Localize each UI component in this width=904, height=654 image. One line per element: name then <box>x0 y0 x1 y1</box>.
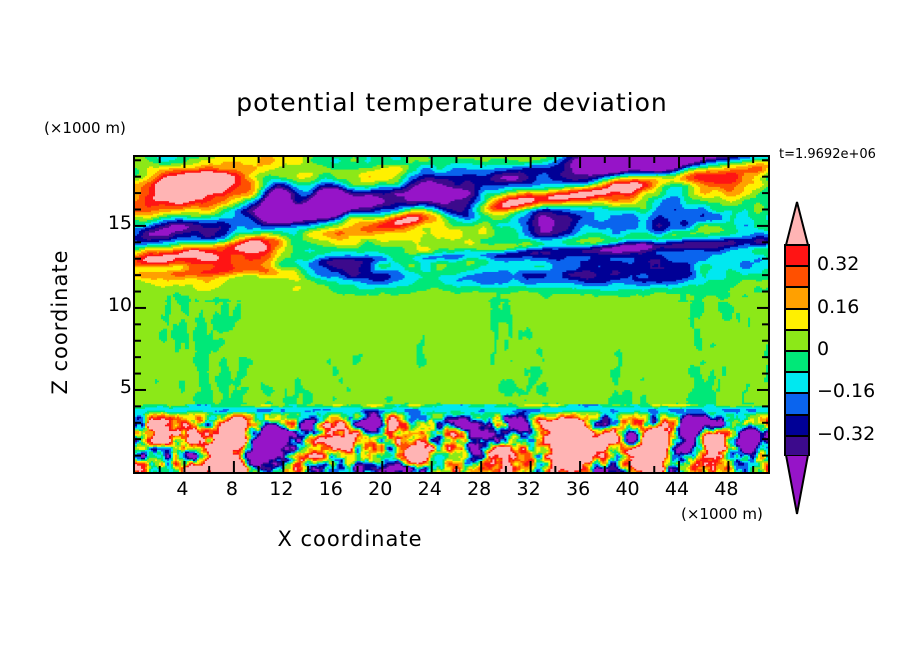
x-tick-label: 36 <box>555 478 601 500</box>
x-tick-label: 40 <box>605 478 651 500</box>
colorbar-band <box>786 394 808 415</box>
colorbar-tick-label: 0.32 <box>817 253 859 275</box>
x-tick-label: 4 <box>159 478 205 500</box>
x-axis-units-label: (×1000 m) <box>681 505 763 523</box>
y-axis-title: Z coordinate <box>48 222 72 422</box>
contour-plot-area <box>133 155 770 474</box>
colorbar-band <box>786 246 808 267</box>
x-tick-label: 44 <box>654 478 700 500</box>
x-tick-label: 12 <box>258 478 304 500</box>
colorbar-band <box>786 416 808 437</box>
colorbar-tick-label: −0.32 <box>817 423 875 445</box>
colorbar-tick-label: 0 <box>817 338 829 360</box>
colorbar-band <box>786 352 808 373</box>
y-tick-label: 5 <box>92 376 132 398</box>
colorbar-under-arrow <box>784 455 810 515</box>
colorbar-over-arrow <box>784 201 810 245</box>
x-tick-label: 48 <box>703 478 749 500</box>
page-title: potential temperature deviation <box>0 88 904 117</box>
figure-canvas: potential temperature deviation (×1000 m… <box>0 0 904 654</box>
x-tick-label: 32 <box>506 478 552 500</box>
y-tick-label: 10 <box>92 294 132 316</box>
y-axis-units-label: (×1000 m) <box>44 119 126 137</box>
colorbar-band <box>786 310 808 331</box>
x-axis-title: X coordinate <box>0 527 700 551</box>
colorbar-band <box>786 331 808 352</box>
x-tick-label: 8 <box>209 478 255 500</box>
x-tick-label: 16 <box>308 478 354 500</box>
timestamp-annotation: t=1.9692e+06 <box>779 147 876 162</box>
x-tick-label: 28 <box>456 478 502 500</box>
colorbar[interactable] <box>784 244 810 456</box>
y-tick-label: 15 <box>92 212 132 234</box>
x-tick-label: 20 <box>357 478 403 500</box>
colorbar-tick-label: 0.16 <box>817 296 859 318</box>
colorbar-band <box>786 267 808 288</box>
colorbar-band <box>786 373 808 394</box>
x-tick-label: 24 <box>407 478 453 500</box>
colorbar-band <box>786 288 808 309</box>
colorbar-tick-label: −0.16 <box>817 380 875 402</box>
contour-field <box>135 157 768 472</box>
